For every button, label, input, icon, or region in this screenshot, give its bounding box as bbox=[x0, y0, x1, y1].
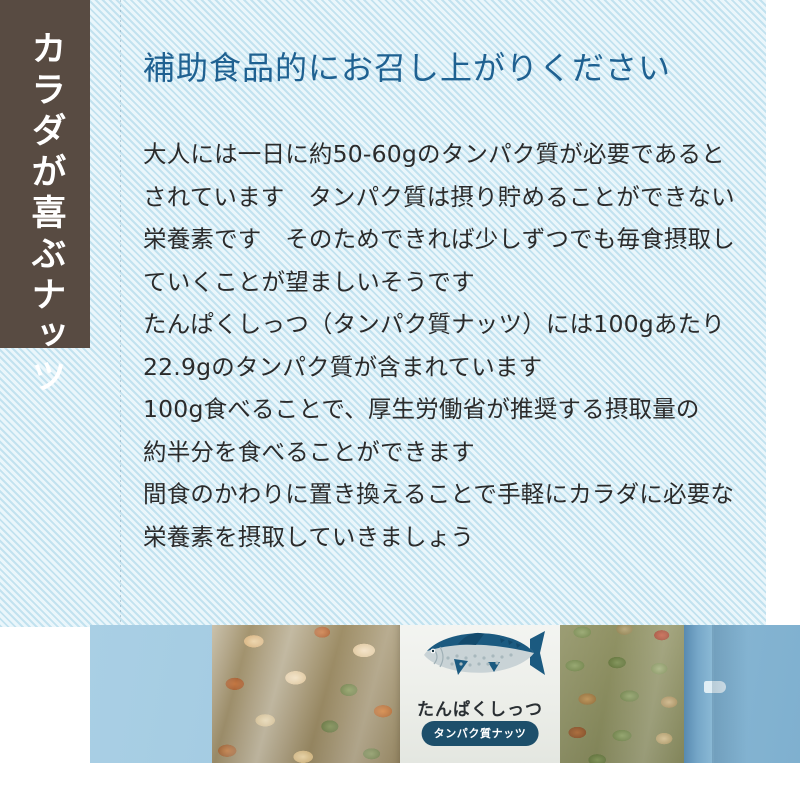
pumpkin-seeds-right bbox=[560, 625, 684, 763]
dotted-guide-line bbox=[120, 0, 121, 627]
body-line: 約半分を食べることができます bbox=[143, 431, 753, 474]
body-copy: 大人には一日に約50-60gのタンパク質が必要であると されています タンパク質… bbox=[143, 133, 753, 558]
body-line: 100g食べることで、厚生労働省が推奨する摂取量の bbox=[143, 388, 753, 431]
body-line: されています タンパク質は摂り貯めることができない bbox=[143, 176, 753, 219]
tuna-fish-icon bbox=[414, 625, 546, 681]
body-line: 22.9gのタンパク質が含まれています bbox=[143, 346, 753, 389]
product-pouch: たんぱくしっつ タンパク質ナッツ bbox=[212, 625, 772, 763]
label-badge: タンパク質ナッツ bbox=[422, 721, 539, 746]
side-banner-label: カラダが喜ぶナッツ bbox=[28, 30, 63, 399]
body-line: たんぱくしっつ（タンパク質ナッツ）には100gあたり bbox=[143, 303, 753, 346]
body-line: 大人には一日に約50-60gのタンパク質が必要であると bbox=[143, 133, 753, 176]
body-line: 栄養素を摂取していきましょう bbox=[143, 516, 753, 559]
body-line: ていくことが望ましいそうです bbox=[143, 261, 753, 304]
page-root: カラダが喜ぶナッツ 補助食品的にお召し上がりください 大人には一日に約50-60… bbox=[0, 0, 800, 800]
product-label: たんぱくしっつ タンパク質ナッツ bbox=[400, 625, 560, 763]
pouch-right-edge bbox=[684, 625, 714, 763]
product-photo: たんぱくしっつ タンパク質ナッツ bbox=[90, 625, 800, 763]
label-title: たんぱくしっつ bbox=[400, 695, 560, 720]
page-title: 補助食品的にお召し上がりください bbox=[143, 49, 671, 87]
pouch-drop-shadow bbox=[712, 625, 748, 763]
body-line: 間食のかわりに置き換えることで手軽にカラダに必要な bbox=[143, 473, 753, 516]
body-line: 栄養素です そのためできれば少しずつでも毎食摂取し bbox=[143, 218, 753, 261]
side-banner: カラダが喜ぶナッツ bbox=[0, 0, 90, 348]
mixed-nuts-left bbox=[212, 625, 402, 763]
